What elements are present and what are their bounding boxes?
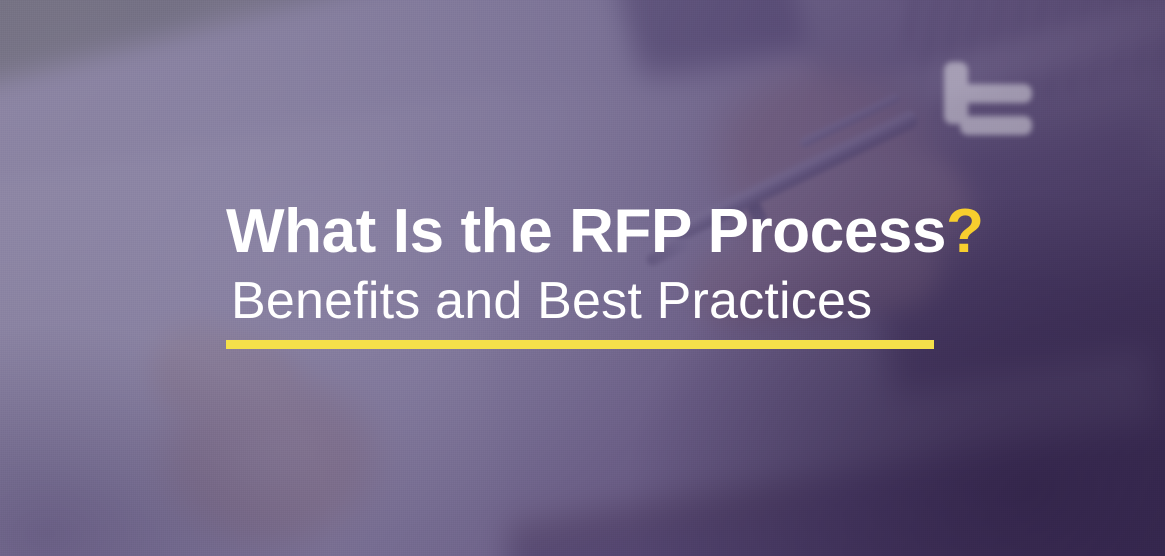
hero-banner: What Is the RFP Process? Benefits and Be… — [0, 0, 1165, 556]
banner-subtitle: Benefits and Best Practices — [226, 270, 986, 332]
brand-watermark-logo-icon — [944, 62, 1040, 140]
banner-title-text: What Is the RFP Process — [226, 197, 946, 266]
headline-block: What Is the RFP Process? Benefits and Be… — [226, 196, 986, 332]
watermark-bottom-bar — [960, 116, 1032, 135]
yellow-underline-rule — [226, 340, 934, 349]
banner-title: What Is the RFP Process? — [226, 196, 986, 268]
watermark-top-bar — [960, 84, 1032, 103]
banner-title-question-mark: ? — [946, 197, 983, 266]
